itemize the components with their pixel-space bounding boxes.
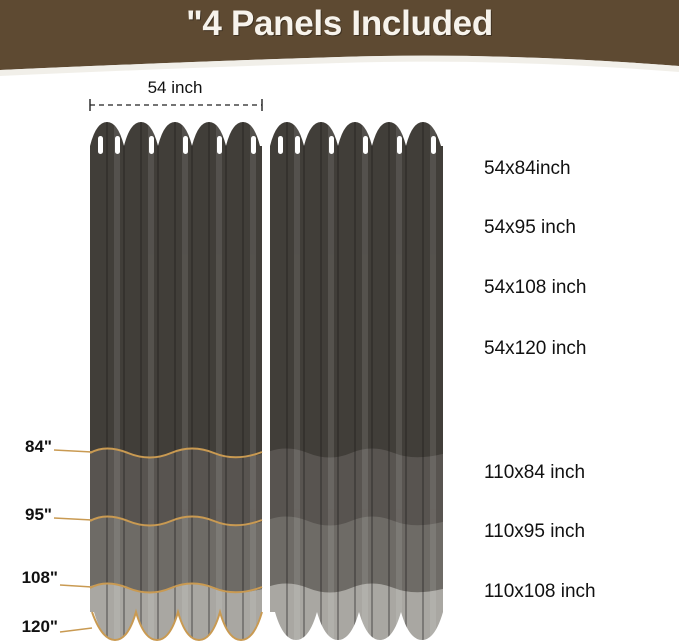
curtain-illustration [0, 0, 679, 643]
left-curtain-panel [85, 115, 270, 643]
infographic-canvas: "4 Panels Included 54 inch [0, 0, 679, 643]
size-option-110x108: 110x108 inch [484, 581, 596, 603]
size-option-54x84: 54x84inch [484, 158, 571, 180]
length-marker-84: 84" [0, 437, 52, 457]
size-option-54x108: 54x108 inch [484, 277, 586, 299]
size-option-54x95: 54x95 inch [484, 217, 576, 239]
length-marker-120: 120" [0, 617, 58, 637]
size-option-54x120: 54x120 inch [484, 338, 586, 360]
size-option-110x84: 110x84 inch [484, 462, 585, 484]
right-curtain-panel [265, 115, 450, 643]
left-leader-lines [54, 450, 92, 632]
length-marker-95: 95" [0, 505, 52, 525]
size-option-110x95: 110x95 inch [484, 521, 585, 543]
length-marker-108: 108" [0, 568, 58, 588]
